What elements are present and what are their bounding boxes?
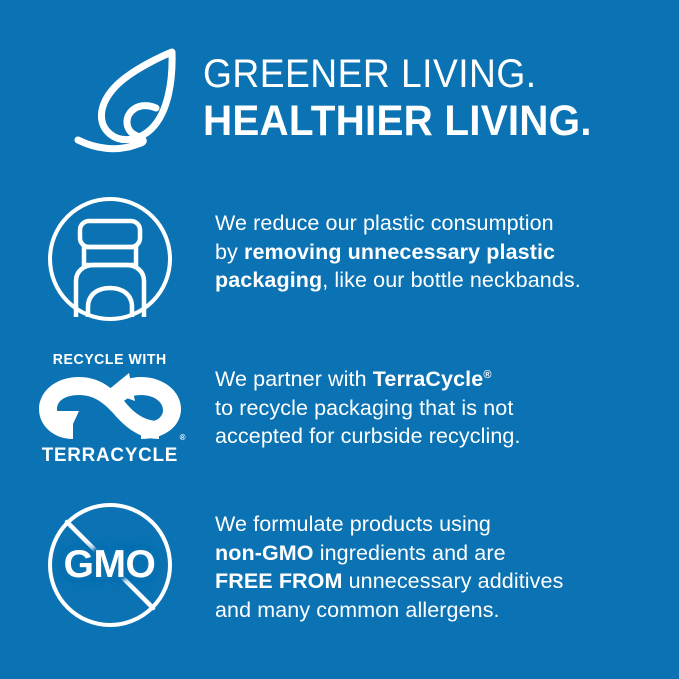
text-column: We partner with TerraCycle® to recycle p…	[215, 352, 679, 451]
headline-line-1: GREENER LIVING.	[203, 52, 640, 96]
icon-column: GMO	[0, 498, 215, 632]
terracycle-logo-bottom-text: TERRACYCLE	[41, 445, 177, 466]
feature-description-plastic: We reduce our plastic consumption by rem…	[215, 209, 665, 295]
text-column: We formulate products using non-GMO ingr…	[215, 498, 679, 624]
infinity-recycle-loop-icon: ®	[35, 371, 185, 443]
feature-row-non-gmo: GMO We formulate products using non-GMO …	[0, 498, 679, 628]
headline-line-2: HEALTHIER LIVING.	[203, 98, 645, 144]
terracycle-logo-top-text: RECYCLE WITH	[52, 352, 166, 368]
page-title: GREENER LIVING. HEALTHIER LIVING.	[203, 52, 673, 144]
no-gmo-label: GMO	[43, 498, 177, 632]
leaf-icon	[68, 48, 188, 160]
terracycle-logo: RECYCLE WITH ® TERRACYCLE	[34, 352, 186, 466]
registered-trademark-mark: ®	[180, 434, 186, 442]
bottle-neckband-circle-icon	[44, 195, 176, 325]
icon-column	[0, 195, 215, 325]
feature-row-plastic-reduction: We reduce our plastic consumption by rem…	[0, 195, 679, 325]
feature-description-non-gmo: We formulate products using non-GMO ingr…	[215, 510, 665, 624]
text-column: We reduce our plastic consumption by rem…	[215, 195, 679, 295]
icon-column: RECYCLE WITH ® TERRACYCLE	[0, 352, 215, 466]
header-banner: GREENER LIVING. HEALTHIER LIVING.	[0, 0, 679, 175]
feature-row-terracycle: RECYCLE WITH ® TERRACYCLE	[0, 352, 679, 477]
no-gmo-circle-icon: GMO	[43, 498, 177, 632]
feature-description-terracycle: We partner with TerraCycle® to recycle p…	[215, 365, 665, 451]
